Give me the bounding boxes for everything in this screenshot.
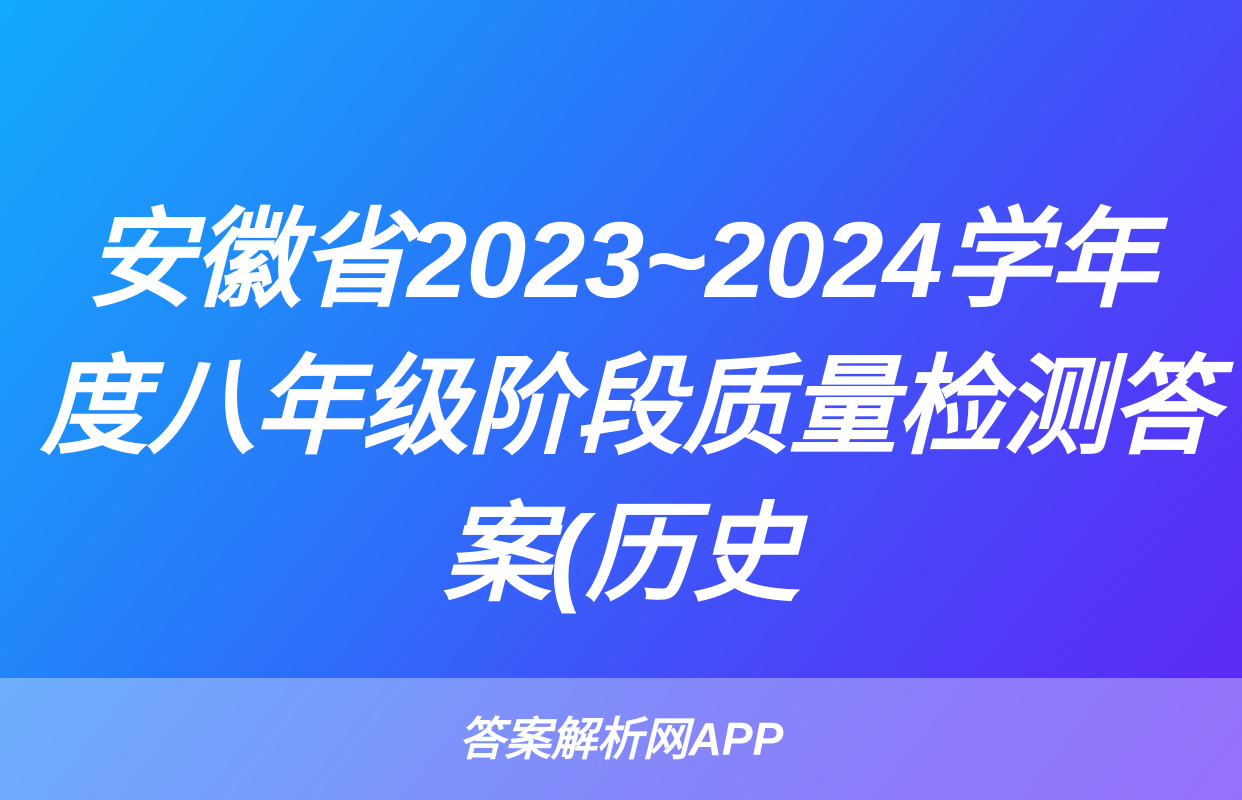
title-line-3: 案(历史 <box>40 480 1202 627</box>
title-line-1: 安徽省2023~2024学年 <box>40 186 1202 333</box>
poster-canvas: 安徽省2023~2024学年 度八年级阶段质量检测答 案(历史 答案解析网APP <box>0 0 1242 800</box>
page-title: 安徽省2023~2024学年 度八年级阶段质量检测答 案(历史 <box>0 186 1242 627</box>
title-line-2: 度八年级阶段质量检测答 <box>40 333 1202 480</box>
watermark-label: 答案解析网APP <box>459 716 784 762</box>
watermark-banner: 答案解析网APP <box>0 678 1242 800</box>
